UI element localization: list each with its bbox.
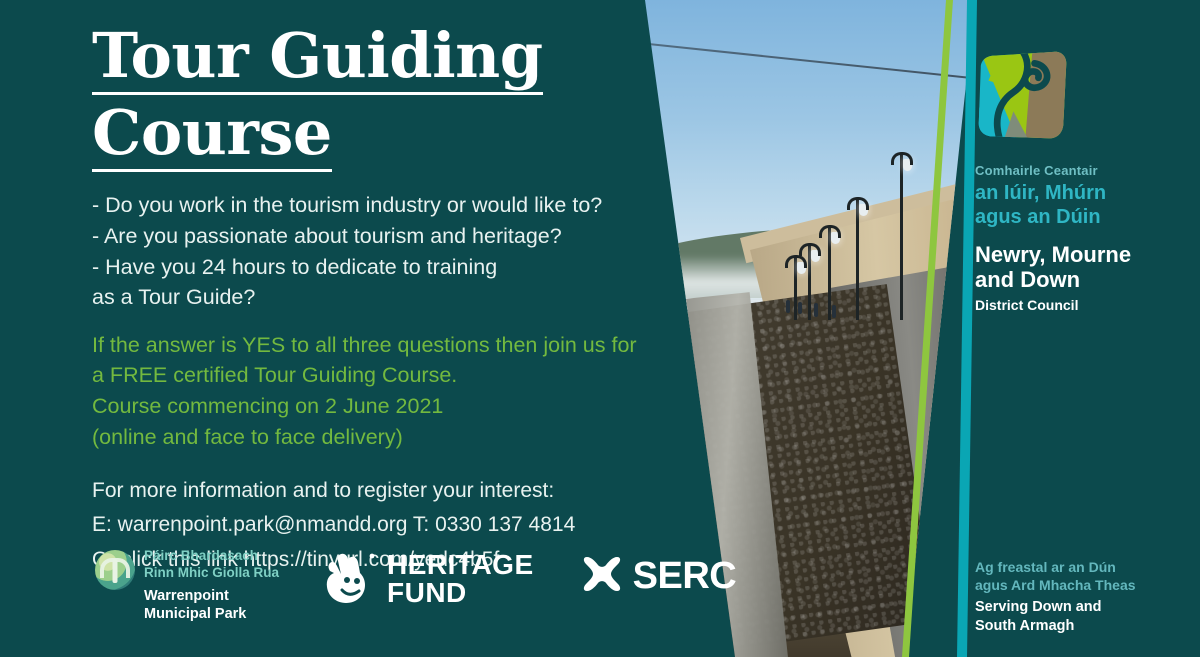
serc-x-icon [580, 554, 624, 598]
serc-logo: SERC [580, 554, 737, 598]
contact-intro: For more information and to register you… [92, 474, 692, 508]
question-item: - Have you 24 hours to dedicate to train… [92, 252, 692, 283]
warrenpoint-park-logo: Páirc Bhardasach Rinn Mhic Giolla Rua Wa… [95, 548, 279, 624]
offer-line: (online and face to face delivery) [92, 422, 692, 453]
title-line-2: Course [92, 101, 332, 172]
heritage-fund-logo: HERITAGE FUND [325, 550, 534, 608]
question-item: as a Tour Guide? [92, 282, 692, 313]
offer-line: a FREE certified Tour Guiding Course. [92, 360, 692, 391]
pedestrian [814, 303, 818, 317]
offer-line: If the answer is YES to all three questi… [92, 330, 692, 361]
serving-english-line-1: Serving Down and [975, 598, 1190, 617]
offer-block: If the answer is YES to all three questi… [92, 330, 692, 453]
council-irish-line-2: agus an Dúin [975, 205, 1185, 229]
serving-statement: Ag freastal ar an Dún agus Ard Mhacha Th… [975, 558, 1190, 636]
council-irish-small: Comhairle Ceantair [975, 163, 1185, 178]
title-line-1: Tour Guiding [92, 24, 543, 95]
lamp-post [794, 258, 797, 320]
serc-wordmark: SERC [633, 557, 737, 595]
heritage-fund-line-1: HERITAGE [387, 551, 534, 579]
council-branding: Comhairle Ceantair an Iúir, Mhúrn agus a… [975, 48, 1185, 313]
wp-irish-line-2: Rinn Mhic Giolla Rua [144, 565, 279, 582]
pedestrian [832, 305, 836, 318]
wp-english-line-1: Warrenpoint [144, 588, 279, 606]
heritage-fund-line-2: FUND [387, 579, 534, 607]
serving-irish-line-1: Ag freastal ar an Dún [975, 558, 1190, 576]
wp-irish-line-1: Páirc Bhardasach [144, 548, 279, 565]
serving-irish-line-2: agus Ard Mhacha Theas [975, 576, 1190, 594]
nmd-council-spiral-icon [975, 48, 1071, 144]
page-title: Tour Guiding Course [92, 24, 692, 172]
question-item: - Do you work in the tourism industry or… [92, 190, 692, 221]
partner-logos: Páirc Bhardasach Rinn Mhic Giolla Rua Wa… [95, 548, 736, 624]
council-english-line-1: Newry, Mourne [975, 242, 1185, 267]
lamp-post [856, 200, 859, 320]
park-globe-icon [95, 550, 135, 590]
lamp-post [900, 155, 903, 320]
lamp-post [808, 246, 811, 320]
serving-english-line-2: South Armagh [975, 617, 1190, 636]
wp-english-line-2: Municipal Park [144, 606, 279, 624]
poster-canvas: Tour Guiding Course - Do you work in the… [0, 0, 1200, 657]
council-english-small: District Council [975, 297, 1185, 313]
offer-line: Course commencing on 2 June 2021 [92, 391, 692, 422]
lottery-crossed-fingers-icon [325, 550, 377, 608]
pedestrian [798, 302, 802, 314]
contact-email-phone[interactable]: E: warrenpoint.park@nmandd.org T: 0330 1… [92, 508, 692, 542]
council-english-line-2: and Down [975, 267, 1185, 292]
lamp-post [828, 228, 831, 320]
question-item: - Are you passionate about tourism and h… [92, 221, 692, 252]
pedestrian [786, 300, 790, 313]
question-list: - Do you work in the tourism industry or… [92, 190, 692, 312]
main-content: Tour Guiding Course - Do you work in the… [92, 24, 692, 577]
council-irish-line-1: an Iúir, Mhúrn [975, 181, 1185, 205]
